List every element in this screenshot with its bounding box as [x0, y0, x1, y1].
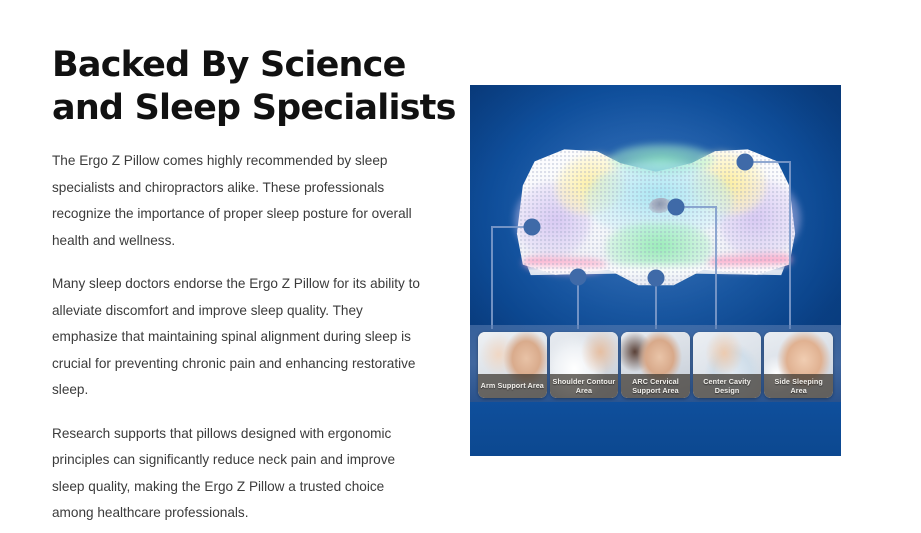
product-image: Arm Support Area Shoulder Contour Area A… — [470, 85, 841, 456]
marketing-section: Backed By Science and Sleep Specialists … — [0, 0, 921, 533]
pillow-graphic — [508, 127, 804, 299]
thumbnail-caption: Side Sleeping Area — [764, 374, 833, 398]
text-column: Backed By Science and Sleep Specialists … — [52, 44, 427, 527]
thumbnail-caption: Center Cavity Design — [693, 374, 762, 398]
headline-line-2: and Sleep Specialists — [52, 87, 427, 130]
body-paragraph-2: Many sleep doctors endorse the Ergo Z Pi… — [52, 271, 427, 404]
panel-bottom-fill — [470, 402, 841, 456]
thumbnail-caption: Arm Support Area — [478, 374, 547, 398]
zone-centre-green-icon — [606, 223, 713, 275]
thumbnail-strip: Arm Support Area Shoulder Contour Area A… — [476, 332, 835, 398]
body-paragraph-3: Research supports that pillows designed … — [52, 421, 427, 527]
thumbnail-center-cavity[interactable]: Center Cavity Design — [693, 332, 762, 398]
body-paragraph-1: The Ergo Z Pillow comes highly recommend… — [52, 148, 427, 254]
thumbnail-arm-support[interactable]: Arm Support Area — [478, 332, 547, 398]
page-title: Backed By Science and Sleep Specialists — [52, 44, 427, 130]
headline-line-1: Backed By Science — [52, 44, 427, 87]
thumbnail-side-sleeping[interactable]: Side Sleeping Area — [764, 332, 833, 398]
pillow-illustration — [470, 85, 841, 345]
thumbnail-arc-cervical[interactable]: ARC Cervical Support Area — [621, 332, 690, 398]
thumbnail-caption: Shoulder Contour Area — [550, 374, 619, 398]
thumbnail-caption: ARC Cervical Support Area — [621, 374, 690, 398]
thumbnail-shoulder-contour[interactable]: Shoulder Contour Area — [550, 332, 619, 398]
